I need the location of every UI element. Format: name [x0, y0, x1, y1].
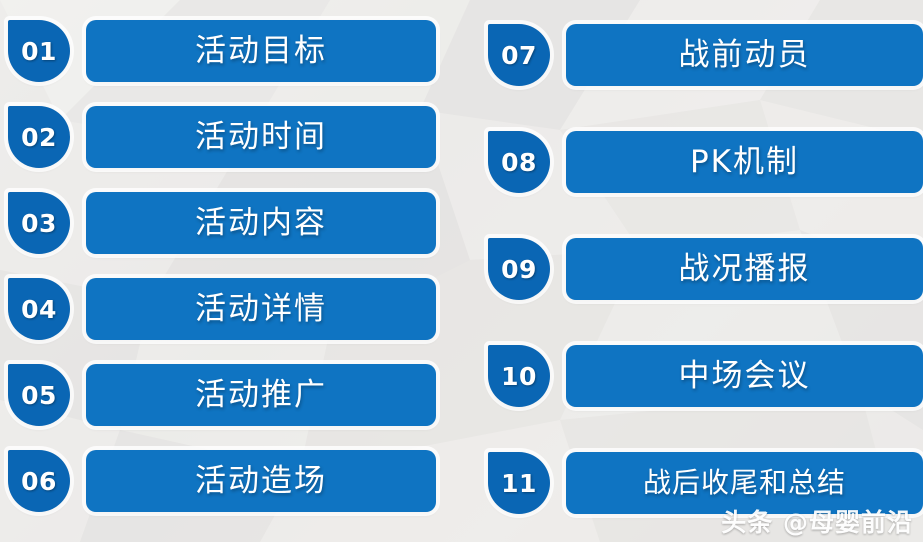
step-label: 战后收尾和总结 [643, 469, 846, 497]
agenda-item-07[interactable]: 07 战前动员 [488, 24, 923, 86]
step-badge-08[interactable]: 08 [488, 131, 550, 193]
step-bar-01[interactable]: 活动目标 [86, 20, 436, 82]
agenda-item-04[interactable]: 04 活动详情 [8, 278, 436, 340]
step-number: 01 [21, 39, 57, 64]
step-number: 10 [501, 364, 537, 389]
step-label: 活动推广 [195, 380, 327, 411]
step-number: 06 [21, 469, 57, 494]
agenda-item-10[interactable]: 10 中场会议 [488, 345, 923, 407]
step-label: 活动时间 [195, 122, 327, 153]
step-number: 08 [501, 150, 537, 175]
step-badge-03[interactable]: 03 [8, 192, 70, 254]
step-bar-05[interactable]: 活动推广 [86, 364, 436, 426]
step-number: 07 [501, 43, 537, 68]
agenda-item-06[interactable]: 06 活动造场 [8, 450, 436, 512]
agenda-item-05[interactable]: 05 活动推广 [8, 364, 436, 426]
agenda-item-02[interactable]: 02 活动时间 [8, 106, 436, 168]
step-badge-10[interactable]: 10 [488, 345, 550, 407]
step-bar-06[interactable]: 活动造场 [86, 450, 436, 512]
step-number: 05 [21, 383, 57, 408]
step-number: 09 [501, 257, 537, 282]
watermark-text: 头条 @母婴前沿 [721, 503, 913, 539]
step-label: 中场会议 [679, 361, 811, 392]
slide-canvas: 01 活动目标 02 活动时间 03 活动内容 04 [0, 0, 923, 542]
step-badge-01[interactable]: 01 [8, 20, 70, 82]
step-label: 活动造场 [195, 466, 327, 497]
step-number: 11 [501, 471, 537, 496]
step-number: 03 [21, 211, 57, 236]
step-badge-07[interactable]: 07 [488, 24, 550, 86]
step-bar-08[interactable]: PK机制 [566, 131, 923, 193]
step-label: 活动目标 [195, 36, 327, 67]
step-label: PK机制 [690, 147, 799, 178]
step-number: 04 [21, 297, 57, 322]
step-label: 活动内容 [195, 208, 327, 239]
step-label: 战前动员 [679, 40, 811, 71]
step-label: 活动详情 [195, 294, 327, 325]
step-bar-10[interactable]: 中场会议 [566, 345, 923, 407]
step-label: 战况播报 [679, 254, 811, 285]
agenda-item-01[interactable]: 01 活动目标 [8, 20, 436, 82]
step-bar-09[interactable]: 战况播报 [566, 238, 923, 300]
agenda-item-03[interactable]: 03 活动内容 [8, 192, 436, 254]
step-badge-04[interactable]: 04 [8, 278, 70, 340]
agenda-item-09[interactable]: 09 战况播报 [488, 238, 923, 300]
step-badge-06[interactable]: 06 [8, 450, 70, 512]
step-bar-02[interactable]: 活动时间 [86, 106, 436, 168]
step-bar-03[interactable]: 活动内容 [86, 192, 436, 254]
step-badge-02[interactable]: 02 [8, 106, 70, 168]
step-bar-04[interactable]: 活动详情 [86, 278, 436, 340]
step-badge-11[interactable]: 11 [488, 452, 550, 514]
step-badge-05[interactable]: 05 [8, 364, 70, 426]
step-badge-09[interactable]: 09 [488, 238, 550, 300]
step-number: 02 [21, 125, 57, 150]
step-bar-07[interactable]: 战前动员 [566, 24, 923, 86]
agenda-item-08[interactable]: 08 PK机制 [488, 131, 923, 193]
